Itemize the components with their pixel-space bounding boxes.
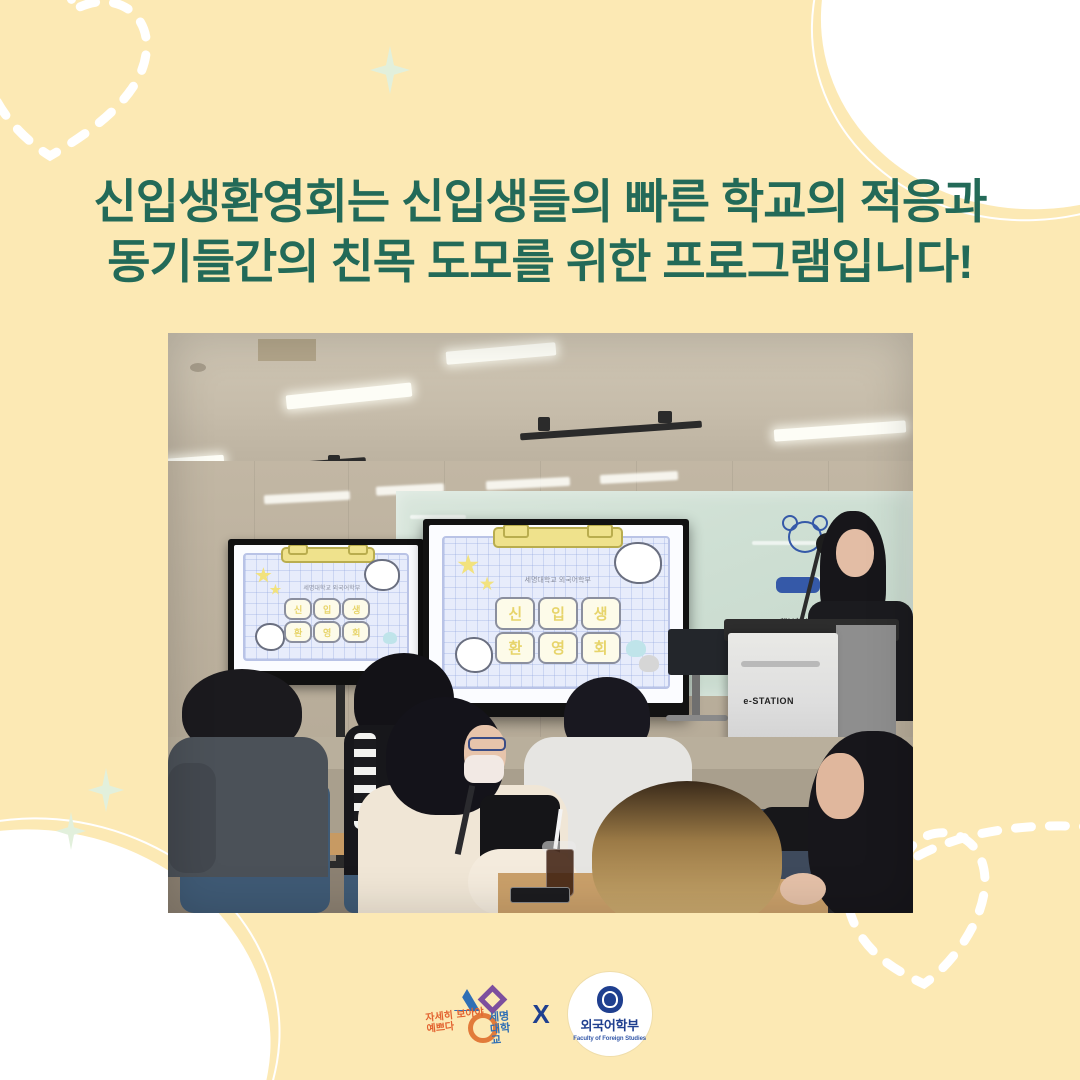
sparkle-icon: [370, 46, 410, 94]
poster-canvas: 신입생환영회는 신입생들의 빠른 학교의 적응과 동기들간의 친목 도모를 위한…: [0, 0, 1080, 1080]
sparkle-icon: [56, 812, 86, 850]
photo-vignette: [168, 333, 913, 913]
footer-logos: 자세히 보아야 예쁘다 세명 대학교 X 외국어학부 Faculty of Fo…: [0, 972, 1080, 1056]
university-logo-handwriting-right: 세명 대학교: [489, 1010, 516, 1047]
university-logo: 자세히 보아야 예쁘다 세명 대학교: [428, 987, 514, 1041]
event-photo: 화이팅 힘내 감사 행복한 하루 ♥ 세명대학교 외국어학부 신 입 생 환: [168, 333, 913, 913]
university-crest-icon: [597, 986, 623, 1013]
x-separator: X: [532, 999, 549, 1030]
page-title: 신입생환영회는 신입생들의 빠른 학교의 적응과 동기들간의 친목 도모를 위한…: [0, 172, 1080, 292]
department-name-korean: 외국어학부: [581, 1015, 639, 1034]
department-logo: 외국어학부 Faculty of Foreign Studies: [568, 972, 652, 1056]
sparkle-icon: [88, 768, 124, 812]
department-name-english: Faculty of Foreign Studies: [573, 1036, 646, 1042]
